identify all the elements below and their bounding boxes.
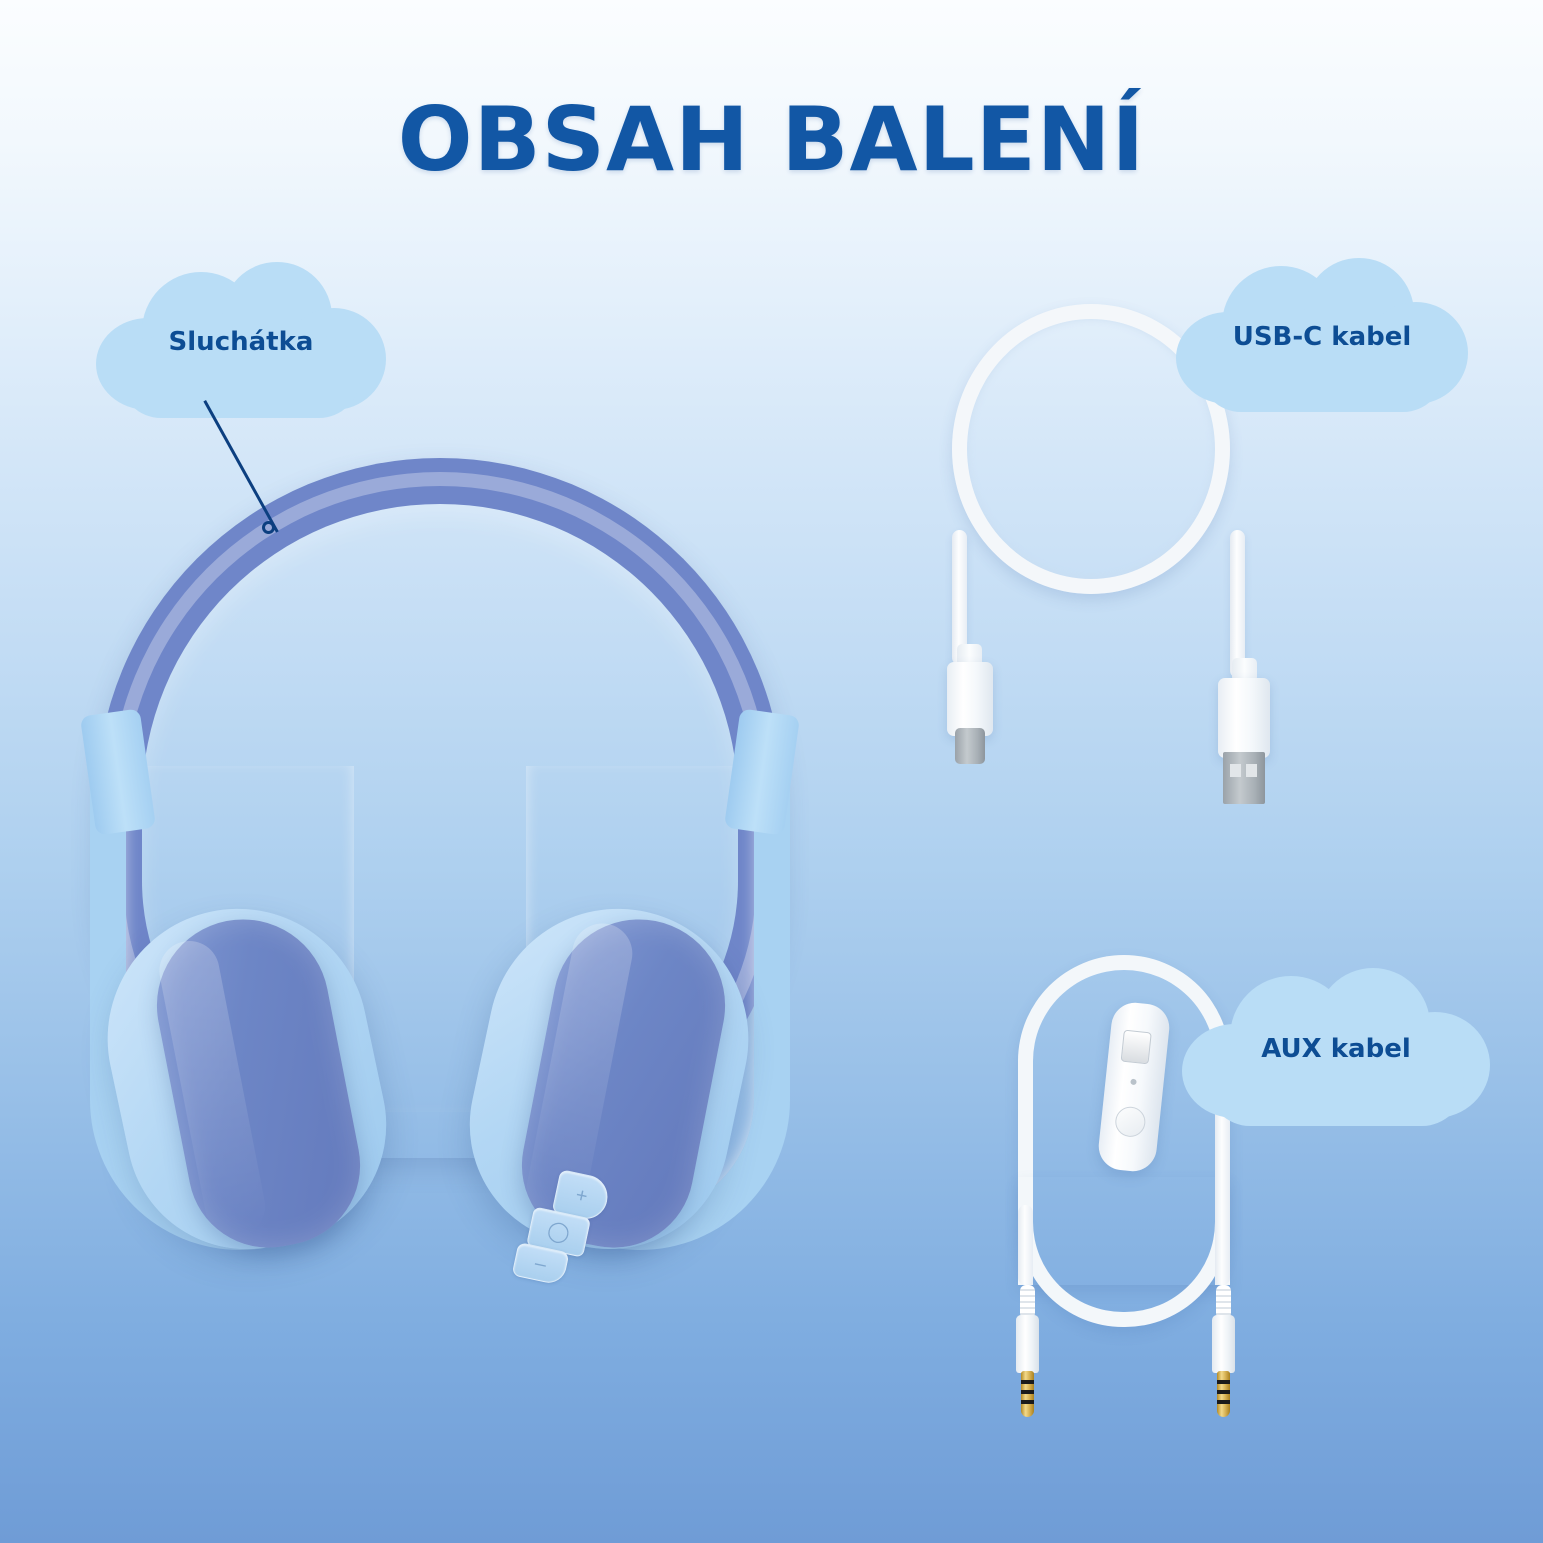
aux-jack-ring — [1021, 1380, 1034, 1384]
aux-jack-left — [1012, 1285, 1042, 1417]
remote-round-button — [1114, 1105, 1147, 1138]
aux-cable-lower-loop — [1018, 1177, 1230, 1327]
remote-led-indicator — [1130, 1079, 1137, 1086]
usb-c-connector-tip — [955, 728, 985, 764]
remote-slider-button — [1121, 1030, 1152, 1065]
aux-jack-ring — [1217, 1400, 1230, 1404]
aux-jack-pin — [1021, 1371, 1034, 1417]
usb-a-contact-pad — [1246, 764, 1257, 777]
usb-a-contact-pad — [1230, 764, 1241, 777]
aux-jack-ring — [1217, 1380, 1230, 1384]
usb-c-connector — [947, 662, 993, 736]
aux-jack-ring — [1021, 1390, 1034, 1394]
callout-label-aux: AUX kabel — [1261, 1034, 1411, 1064]
aux-jack-pin — [1217, 1371, 1230, 1417]
callout-cloud-aux: AUX kabel — [1182, 968, 1490, 1130]
aux-jack-ring — [1021, 1400, 1034, 1404]
callout-pointer-dot — [262, 521, 275, 534]
callout-label-usb-c: USB-C kabel — [1233, 322, 1412, 352]
aux-jack-right — [1208, 1285, 1238, 1417]
headphones-product-image: + ◯ – — [60, 430, 820, 1350]
page-title: OBSAH BALENÍ — [0, 88, 1543, 191]
usb-a-connector-tip — [1223, 752, 1265, 804]
aux-jack-strain-relief — [1216, 1285, 1231, 1319]
usb-c-cable-right-leg — [1230, 530, 1245, 678]
aux-jack-strain-relief — [1020, 1285, 1035, 1319]
aux-jack-body — [1212, 1315, 1235, 1373]
aux-jack-ring — [1217, 1390, 1230, 1394]
aux-jack-body — [1016, 1315, 1039, 1373]
callout-cloud-headphones: Sluchátka — [96, 262, 386, 422]
usb-a-connector — [1218, 678, 1270, 758]
callout-label-headphones: Sluchátka — [169, 327, 314, 357]
aux-cable-left-leg — [1018, 1205, 1033, 1285]
callout-cloud-usb-c: USB-C kabel — [1176, 258, 1468, 416]
